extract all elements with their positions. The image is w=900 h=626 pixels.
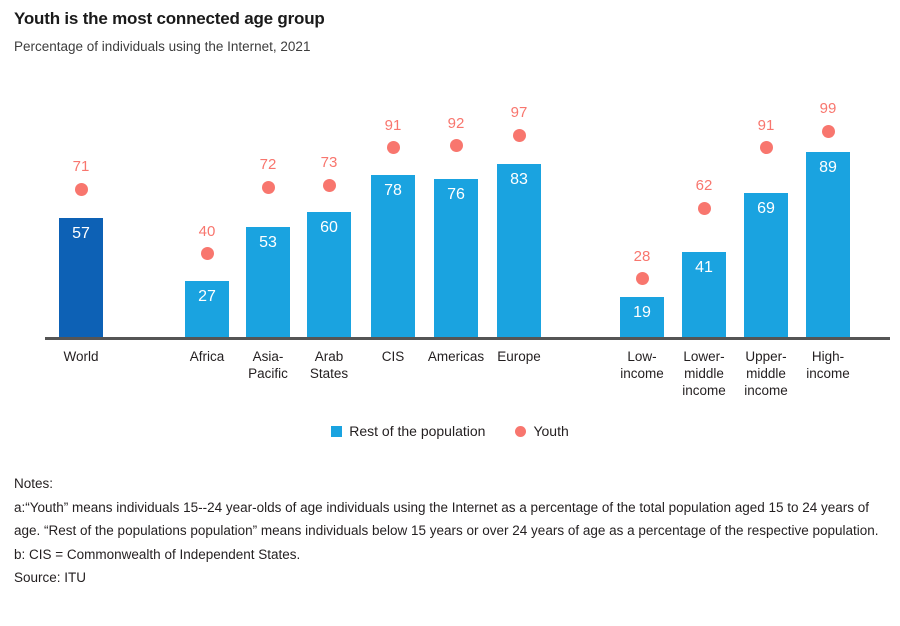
- cat-label-line: Africa: [190, 349, 225, 364]
- bar-value-label: 89: [806, 158, 850, 178]
- legend-label: Rest of the population: [349, 423, 485, 439]
- youth-value-label: 92: [434, 115, 478, 133]
- chart-notes: Notes: a:“Youth” means individuals 15--2…: [14, 472, 894, 590]
- youth-value-label: 72: [246, 156, 290, 174]
- cat-label-line: income: [806, 366, 850, 381]
- notes-line-a: a:“Youth” means individuals 15--24 year-…: [14, 496, 894, 543]
- youth-dot[interactable]: [822, 125, 835, 138]
- youth-value-label: 99: [806, 100, 850, 118]
- youth-value-label: 91: [744, 117, 788, 135]
- cat-label-line: Europe: [497, 349, 541, 364]
- cat-label-line: Americas: [428, 349, 484, 364]
- x-axis-category-label: High-income: [791, 348, 865, 382]
- youth-dot[interactable]: [636, 272, 649, 285]
- cat-label-line: income: [744, 383, 788, 398]
- bar-value-label: 19: [620, 303, 664, 323]
- youth-dot[interactable]: [323, 179, 336, 192]
- bar-value-label: 69: [744, 199, 788, 219]
- cat-label-line: CIS: [382, 349, 405, 364]
- cat-label-line: Asia-: [253, 349, 284, 364]
- bar-value-label: 76: [434, 185, 478, 205]
- youth-value-label: 73: [307, 154, 351, 172]
- x-axis-category-label: ArabStates: [292, 348, 366, 382]
- cat-label-line: States: [310, 366, 348, 381]
- cat-label-line: income: [682, 383, 726, 398]
- cat-label-line: High-: [812, 349, 844, 364]
- cat-label-line: income: [620, 366, 664, 381]
- bar-value-label: 57: [59, 224, 103, 244]
- x-axis-line: [45, 337, 890, 340]
- bar-value-label: 83: [497, 170, 541, 190]
- cat-label-line: Lower-: [683, 349, 724, 364]
- cat-label-line: Pacific: [248, 366, 288, 381]
- cat-label-line: Arab: [315, 349, 344, 364]
- cat-label-line: World: [63, 349, 98, 364]
- youth-value-label: 28: [620, 248, 664, 266]
- legend-label: Youth: [533, 423, 568, 439]
- youth-value-label: 40: [185, 223, 229, 241]
- notes-heading: Notes:: [14, 472, 894, 496]
- legend-dot-icon: [515, 426, 526, 437]
- notes-line-b: b: CIS = Commonwealth of Independent Sta…: [14, 543, 894, 567]
- chart-legend: Rest of the populationYouth: [0, 423, 900, 439]
- cat-label-line: middle: [746, 366, 786, 381]
- youth-dot[interactable]: [450, 139, 463, 152]
- youth-dot[interactable]: [75, 183, 88, 196]
- youth-dot[interactable]: [262, 181, 275, 194]
- cat-label-line: Upper-: [745, 349, 786, 364]
- legend-item[interactable]: Rest of the population: [331, 423, 485, 439]
- bar-high[interactable]: [806, 152, 850, 337]
- youth-value-label: 71: [59, 158, 103, 176]
- youth-dot[interactable]: [698, 202, 711, 215]
- cat-label-line: Low-: [627, 349, 656, 364]
- bar-value-label: 41: [682, 258, 726, 278]
- notes-source: Source: ITU: [14, 566, 894, 590]
- youth-dot[interactable]: [387, 141, 400, 154]
- bar-value-label: 53: [246, 233, 290, 253]
- bar-value-label: 60: [307, 218, 351, 238]
- youth-value-label: 62: [682, 177, 726, 195]
- cat-label-line: middle: [684, 366, 724, 381]
- youth-value-label: 97: [497, 104, 541, 122]
- x-axis-category-label: Europe: [482, 348, 556, 365]
- legend-square-icon: [331, 426, 342, 437]
- youth-value-label: 91: [371, 117, 415, 135]
- x-axis-category-label: World: [44, 348, 118, 365]
- youth-dot[interactable]: [201, 247, 214, 260]
- bar-value-label: 78: [371, 181, 415, 201]
- youth-dot[interactable]: [513, 129, 526, 142]
- youth-dot[interactable]: [760, 141, 773, 154]
- bar-value-label: 27: [185, 287, 229, 307]
- legend-item[interactable]: Youth: [515, 423, 568, 439]
- chart-plot-area: 5771World2740Africa5372Asia-Pacific6073A…: [0, 0, 900, 400]
